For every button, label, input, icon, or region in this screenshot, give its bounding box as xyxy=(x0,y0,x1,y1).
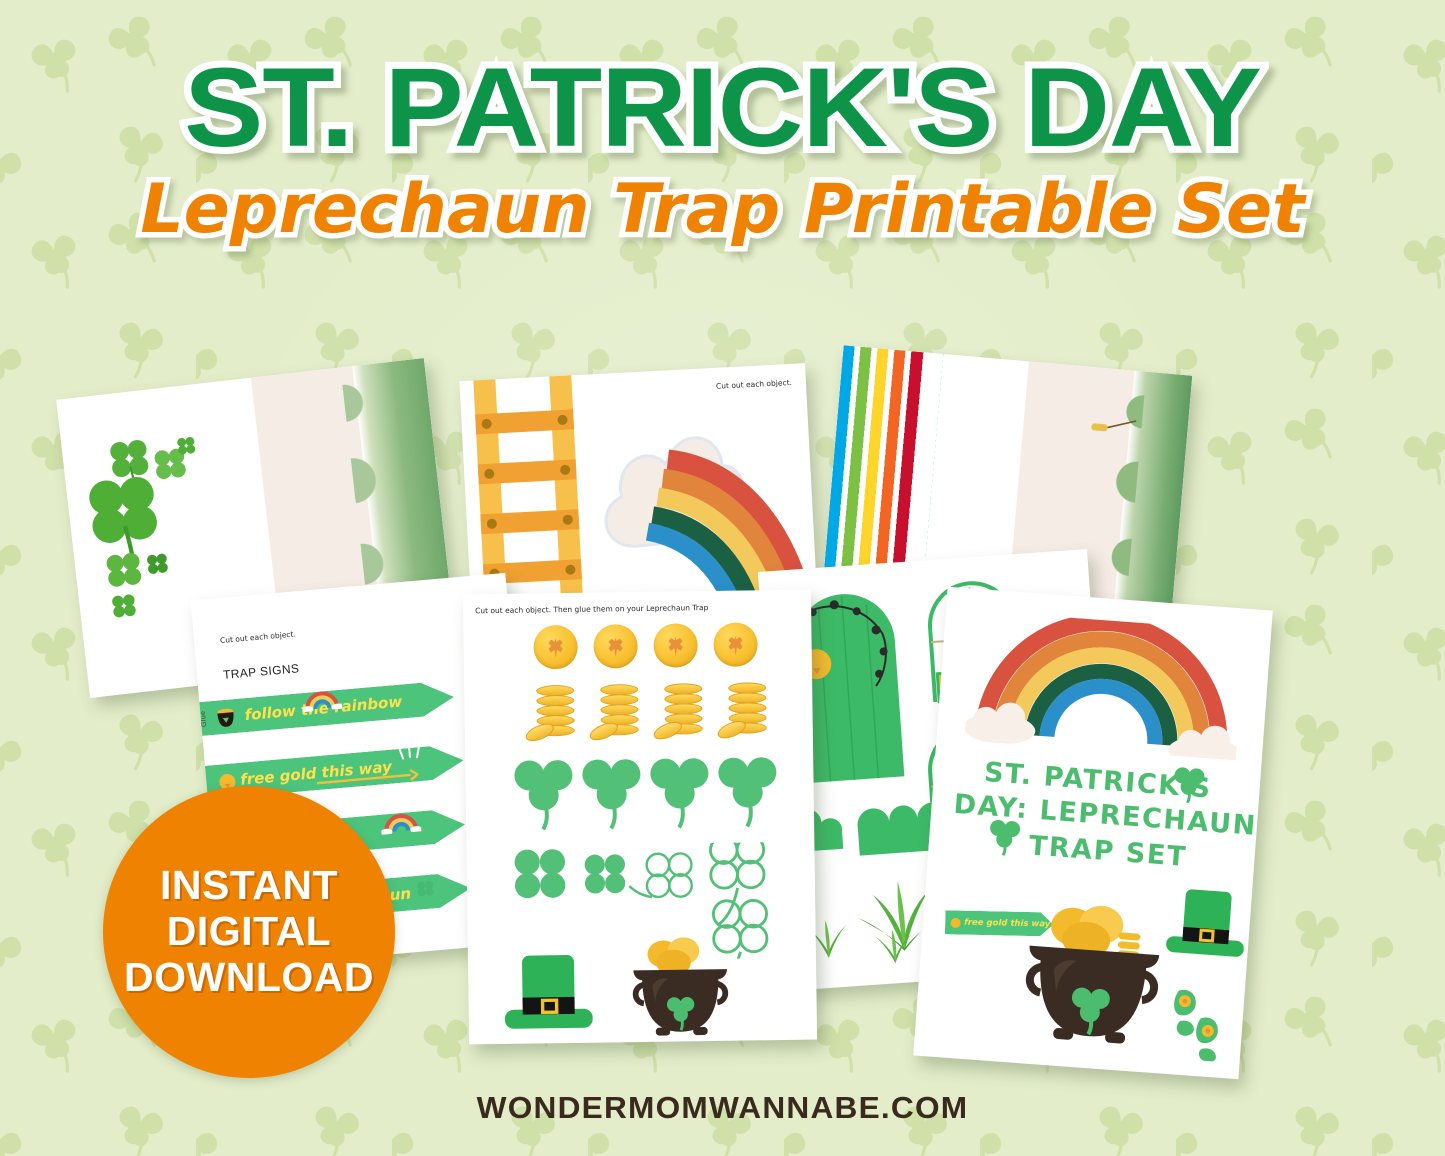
badge-line-1: INSTANT xyxy=(160,863,338,909)
leprechaun-hat-icon xyxy=(1165,886,1248,964)
gold-coin-icon xyxy=(653,623,698,668)
badge-line-2: DIGITAL xyxy=(167,909,331,955)
cut-note-trap-signs-sheet: Cut out each object. xyxy=(220,629,296,645)
leprechaun-hat-icon xyxy=(504,951,593,1036)
hat-and-pot-row xyxy=(504,929,743,1036)
shamrocks-row xyxy=(507,756,780,832)
coin-stack-icon xyxy=(590,682,643,743)
pot-of-gold-icon xyxy=(618,929,743,1039)
gold-coin-icon-tiny xyxy=(950,917,961,928)
shamrock-icon-cover-2 xyxy=(986,816,1023,856)
sheet-cover[interactable]: ST. PATRICK'S DAY: LEPRECHAUN TRAP SET f… xyxy=(913,587,1273,1080)
grass-tuft-icon-small-2 xyxy=(871,924,918,965)
four-leaf-clover-cluster-icon xyxy=(68,419,229,624)
gold-coin-icon xyxy=(713,622,758,667)
gold-coins-row xyxy=(533,622,758,669)
rainbow-icon-small xyxy=(301,687,343,712)
page-subtitle: Leprechaun Trap Printable Set xyxy=(0,176,1445,244)
gold-coin-icon xyxy=(533,625,578,670)
sparkle-icon xyxy=(396,743,423,761)
gold-pin-icon xyxy=(1091,415,1139,441)
footer-website: WONDERMOMWANNABE.COM xyxy=(0,1090,1445,1126)
trap-sign-1[interactable]: Glue follow the rainbow xyxy=(190,680,455,737)
trap-signs-heading: TRAP SIGNS xyxy=(222,661,299,682)
coin-stack-icon xyxy=(526,683,579,744)
shamrock-icon-cover-1 xyxy=(1171,764,1208,804)
headline-block: ST. PATRICK'S DAY Leprechaun Trap Printa… xyxy=(0,52,1445,244)
coin-stack-icon xyxy=(718,680,771,741)
glue-label-1: Glue xyxy=(200,710,208,727)
rainbow-icon-small-2 xyxy=(380,809,422,834)
gold-coin-icon xyxy=(593,624,638,669)
coin-stack-icon xyxy=(654,681,707,742)
footprints-icon xyxy=(1168,986,1233,1062)
shamrock-icon-decor xyxy=(416,878,436,899)
instant-digital-download-badge[interactable]: INSTANT DIGITAL DOWNLOAD xyxy=(103,786,395,1078)
rainbow-icon xyxy=(964,611,1245,761)
coin-stacks-row xyxy=(526,680,771,743)
page-title: ST. PATRICK'S DAY xyxy=(0,52,1445,164)
pot-of-gold-icon-small xyxy=(214,706,238,730)
badge-line-3: DOWNLOAD xyxy=(124,955,374,1001)
cut-note-objects-sheet: Cut out each object. Then glue them on y… xyxy=(475,603,708,615)
pot-of-gold-icon xyxy=(1019,890,1168,1050)
sheet-objects[interactable]: Cut out each object. Then glue them on y… xyxy=(463,590,817,1045)
